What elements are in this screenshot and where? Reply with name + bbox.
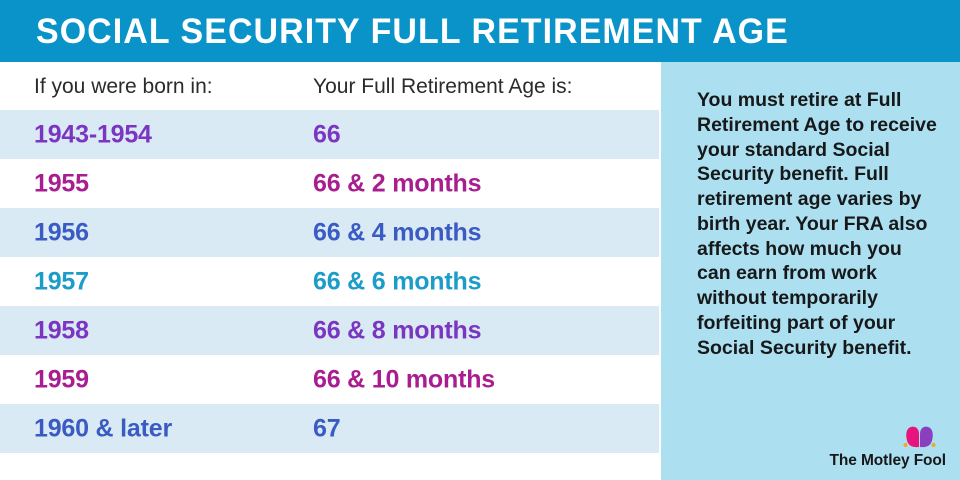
cell-birth-year: 1955 (34, 171, 89, 196)
side-panel-body: You must retire at Full Retirement Age t… (697, 88, 938, 360)
column-header-birth-year: If you were born in: (34, 76, 213, 97)
logo-wordmark: The Motley Fool (830, 453, 946, 469)
motley-fool-logo: The Motley Fool (824, 424, 946, 470)
column-header-retirement-age: Your Full Retirement Age is: (313, 76, 573, 97)
table-row: 195966 & 10 months (0, 355, 659, 404)
cell-retirement-age: 67 (313, 416, 340, 441)
cell-retirement-age: 66 & 4 months (313, 220, 481, 245)
infographic-root: Social Security Full Retirement Age If y… (0, 0, 960, 480)
cell-retirement-age: 66 (313, 122, 340, 147)
table-row: 195666 & 4 months (0, 208, 659, 257)
cell-birth-year: 1957 (34, 269, 89, 294)
cell-birth-year: 1956 (34, 220, 89, 245)
cell-retirement-age: 66 & 6 months (313, 269, 481, 294)
table-row: 195766 & 6 months (0, 257, 659, 306)
cell-birth-year: 1960 & later (34, 416, 172, 441)
retirement-age-table: If you were born in: Your Full Retiremen… (0, 62, 661, 480)
cell-birth-year: 1959 (34, 367, 89, 392)
header-banner: Social Security Full Retirement Age (0, 0, 960, 62)
table-row: 195866 & 8 months (0, 306, 659, 355)
side-panel: You must retire at Full Retirement Age t… (661, 62, 960, 480)
page-title: Social Security Full Retirement Age (36, 14, 789, 49)
jester-hat-icon (896, 424, 944, 448)
cell-birth-year: 1943-1954 (34, 122, 152, 147)
table-header-row: If you were born in: Your Full Retiremen… (0, 62, 661, 110)
cell-retirement-age: 66 & 8 months (313, 318, 481, 343)
table-row: 1960 & later67 (0, 404, 659, 453)
table-row: 1943-195466 (0, 110, 659, 159)
cell-retirement-age: 66 & 10 months (313, 367, 495, 392)
cell-retirement-age: 66 & 2 months (313, 171, 481, 196)
table-row: 195566 & 2 months (0, 159, 659, 208)
cell-birth-year: 1958 (34, 318, 89, 343)
